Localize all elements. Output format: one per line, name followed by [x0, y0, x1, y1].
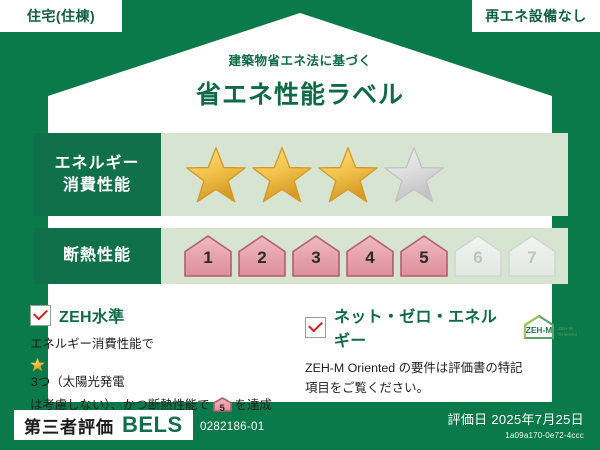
zeh-standard-title: ZEH水準	[59, 303, 125, 327]
star-filled	[185, 144, 247, 206]
net-zero-energy-header: ネット・ゼロ・エネルギー ZEH-M ZEH-M Oriented	[305, 303, 577, 351]
energy-performance-label: 住宅(住棟) 再エネ設備なし 建築物省エネ法に基づく 省エネ性能ラベル エネルギ…	[0, 0, 600, 450]
checkbox-checked-icon	[30, 305, 51, 326]
svg-text:ZEH-M: ZEH-M	[526, 325, 553, 335]
third-party-evaluation-label: 第三者評価	[24, 413, 114, 438]
net-zero-energy-title: ネット・ゼロ・エネルギー	[334, 303, 510, 351]
zeh-m-logo: ZEH-M ZEH-M Oriented	[522, 314, 577, 340]
bels-logo-text: BELS	[122, 412, 183, 438]
star-filled	[317, 144, 379, 206]
grade-chip-2: 2	[237, 234, 287, 278]
star-icon	[317, 144, 379, 206]
zeh-standard-description: エネルギー消費性能で3つ（太陽光発電 は考慮しない）、かつ断熱性能で5を達成	[30, 334, 300, 415]
star-empty	[383, 144, 445, 206]
net-zero-energy-block: ネット・ゼロ・エネルギー ZEH-M ZEH-M Oriented ZEH-M …	[305, 303, 577, 398]
renewable-equipment-tag: 再エネ設備なし	[472, 0, 600, 32]
star-rating	[161, 133, 568, 216]
insulation-performance-row: 断熱性能 1234567	[33, 228, 568, 284]
star-filled	[251, 144, 313, 206]
evaluation-date-block: 評価日 2025年7月25日 1a09a170-0e72-4ccc	[448, 409, 584, 440]
checkbox-checked-icon	[305, 317, 326, 338]
evaluation-date: 評価日 2025年7月25日	[448, 409, 584, 428]
grade-chip-4: 4	[345, 234, 395, 278]
grade-house-icon	[453, 234, 503, 278]
energy-performance-row: エネルギー 消費性能	[33, 133, 568, 216]
certificate-number: 0282186-01	[200, 421, 264, 433]
grade-chip-3: 3	[291, 234, 341, 278]
grade-chip-1: 1	[183, 234, 233, 278]
zeh-m-house-icon: ZEH-M	[522, 314, 556, 340]
star-icon	[185, 144, 247, 206]
net-zero-energy-description: ZEH-M Oriented の要件は評価書の特記 項目をご覧ください。	[305, 358, 577, 398]
title-main: 省エネ性能ラベル	[0, 75, 600, 111]
zeh-standard-header: ZEH水準	[30, 303, 300, 327]
grade-house-icon	[237, 234, 287, 278]
energy-performance-row-label: エネルギー 消費性能	[33, 133, 161, 216]
grade-house-icon	[399, 234, 449, 278]
grade-chip-5: 5	[399, 234, 449, 278]
star-icon	[251, 144, 313, 206]
grade-house-icon	[507, 234, 557, 278]
zeh-standard-block: ZEH水準 エネルギー消費性能で3つ（太陽光発電 は考慮しない）、かつ断熱性能で…	[30, 303, 300, 415]
page-title: 建築物省エネ法に基づく 省エネ性能ラベル	[0, 50, 600, 111]
grade-chip-7: 7	[507, 234, 557, 278]
grade-house-icon	[291, 234, 341, 278]
insulation-grade-scale: 1234567	[161, 228, 568, 284]
grade-chip-6: 6	[453, 234, 503, 278]
grade-house-icon	[345, 234, 395, 278]
building-type-tag: 住宅(住棟)	[0, 0, 122, 32]
third-party-evaluation-badge: 第三者評価 BELS	[14, 410, 193, 440]
document-uid: 1a09a170-0e72-4ccc	[448, 431, 584, 440]
insulation-performance-row-label: 断熱性能	[33, 228, 161, 284]
title-subtitle: 建築物省エネ法に基づく	[0, 50, 600, 69]
grade-chip-icon: 5	[212, 396, 233, 413]
star-icon	[30, 357, 45, 372]
zeh-m-logo-subtext: ZEH-M Oriented	[558, 326, 577, 340]
star-icon	[30, 357, 300, 372]
grade-house-icon	[183, 234, 233, 278]
star-icon	[383, 144, 445, 206]
